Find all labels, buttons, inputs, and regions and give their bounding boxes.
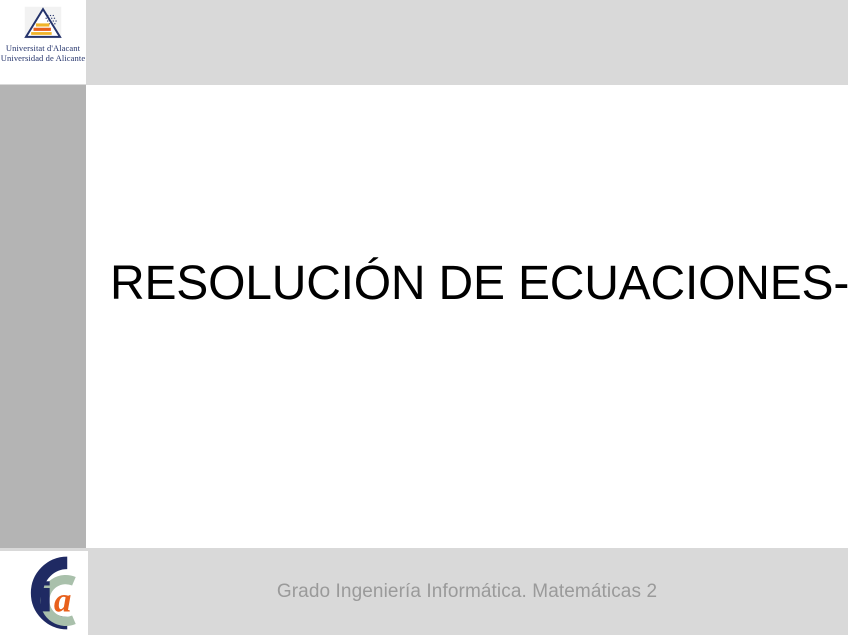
university-logo-text: Universitat d'Alacant Universidad de Ali… <box>1 43 85 63</box>
cia-logo-panel: a <box>0 551 88 635</box>
header-band <box>0 0 848 85</box>
footer-course-label: Grado Ingeniería Informática. Matemática… <box>86 548 848 635</box>
svg-text:a: a <box>54 580 72 619</box>
left-sidebar-band <box>0 85 86 548</box>
presentation-slide: Universitat d'Alacant Universidad de Ali… <box>0 0 848 635</box>
university-logo-panel: Universitat d'Alacant Universidad de Ali… <box>0 0 86 84</box>
cia-monogram-icon: a <box>2 551 88 635</box>
university-name-spanish: Universidad de Alicante <box>1 53 85 63</box>
university-name-catalan: Universitat d'Alacant <box>1 43 85 53</box>
slide-content-area: RESOLUCIÓN DE ECUACIONES-I <box>86 85 848 548</box>
ua-triangle-mark-icon <box>23 6 63 40</box>
page-title: RESOLUCIÓN DE ECUACIONES-I <box>110 258 840 311</box>
